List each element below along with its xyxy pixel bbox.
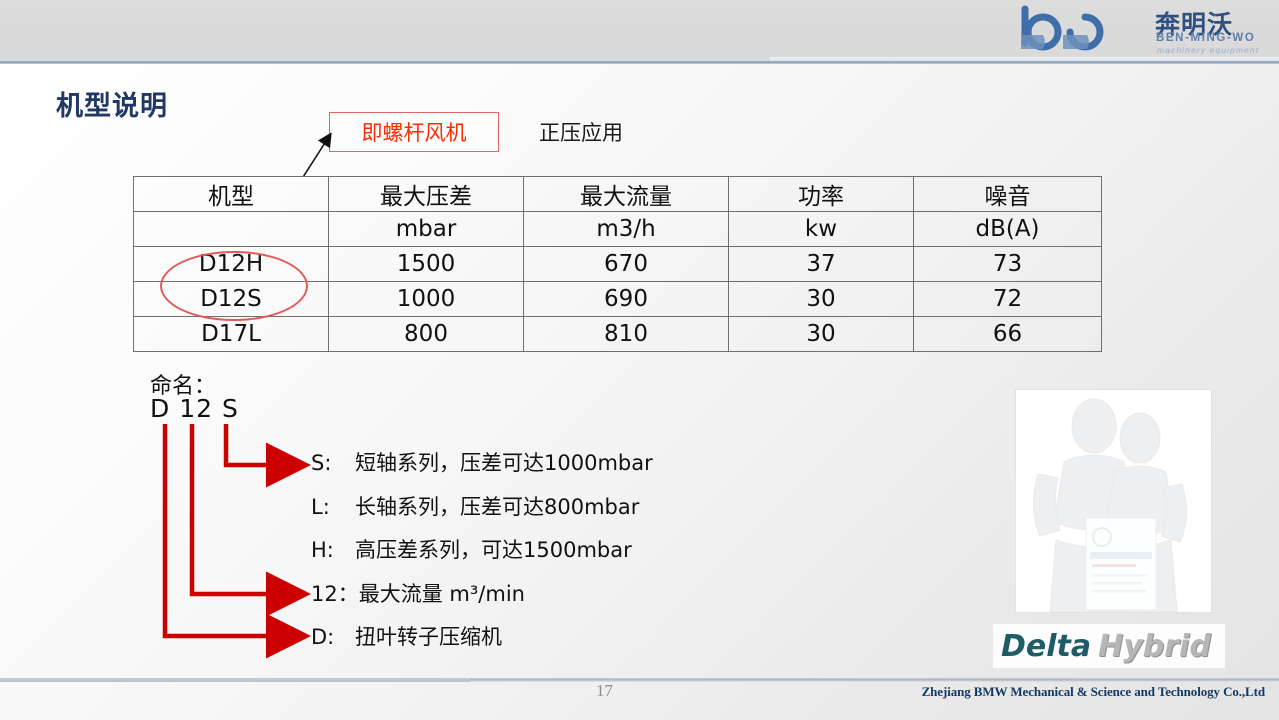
th-model: 机型 (134, 177, 329, 212)
company-logo: 奔明沃 BEN-MING-WO machinery equipment (1015, 3, 1265, 55)
page-number: 17 (596, 681, 613, 701)
footer-rule-left (0, 679, 470, 682)
legend-item-l: L:长轴系列，压差可达800mbar (311, 491, 1011, 535)
naming-legend: S:短轴系列，压差可达1000mbar L:长轴系列，压差可达800mbar H… (311, 447, 1011, 665)
footer-company: Zhejiang BMW Mechanical & Science and Te… (922, 684, 1265, 700)
table-row: D12S 1000 690 30 72 (134, 282, 1102, 317)
cell-power: 37 (729, 247, 914, 282)
header-rule (0, 61, 1279, 64)
legend-desc-12: 最大流量 m³/min (359, 582, 525, 606)
th-power: 功率 (729, 177, 914, 212)
unit-noise: dB(A) (914, 212, 1102, 247)
th-pressure: 最大压差 (329, 177, 524, 212)
legend-item-12: 12：最大流量 m³/min (311, 578, 1011, 622)
connector-12 (192, 424, 302, 594)
legend-key-l: L: (311, 495, 355, 519)
unit-pressure: mbar (329, 212, 524, 247)
table-row: D17L 800 810 30 66 (134, 317, 1102, 352)
cell-pressure: 1500 (329, 247, 524, 282)
page-title: 机型说明 (56, 84, 168, 123)
logo-tagline: machinery equipment (1157, 45, 1259, 55)
legend-desc-d: 扭叶转子压缩机 (355, 625, 502, 649)
legend-item-d: D:扭叶转子压缩机 (311, 621, 1011, 665)
legend-desc-h: 高压差系列，可达1500mbar (355, 538, 632, 562)
cell-noise: 73 (914, 247, 1102, 282)
unit-power: kw (729, 212, 914, 247)
cell-noise: 72 (914, 282, 1102, 317)
cell-power: 30 (729, 317, 914, 352)
logo-english-name: BEN-MING-WO (1156, 32, 1255, 44)
cell-pressure: 1000 (329, 282, 524, 317)
naming-code: D 12 S (150, 394, 239, 423)
legend-desc-l: 长轴系列，压差可达800mbar (355, 495, 639, 519)
brand-hybrid: Hybrid (1098, 629, 1211, 664)
brand-delta: Delta (1001, 629, 1091, 664)
cell-flow: 810 (524, 317, 729, 352)
slide-canvas: 奔明沃 BEN-MING-WO machinery equipment 机型说明… (0, 0, 1279, 720)
callout-box: 即螺杆风机 (329, 112, 499, 152)
unit-flow: m3/h (524, 212, 729, 247)
table-unit-row: mbar m3/h kw dB(A) (134, 212, 1102, 247)
legend-key-12: 12： (311, 582, 359, 606)
table-row: D12H 1500 670 37 73 (134, 247, 1102, 282)
unit-model (134, 212, 329, 247)
cell-flow: 670 (524, 247, 729, 282)
positive-pressure-note: 正压应用 (539, 117, 623, 147)
spec-table: 机型 最大压差 最大流量 功率 噪音 mbar m3/h kw dB(A) D1… (133, 176, 1102, 352)
th-noise: 噪音 (914, 177, 1102, 212)
cell-model: D17L (134, 317, 329, 352)
th-flow: 最大流量 (524, 177, 729, 212)
callout-box-text: 即螺杆风机 (362, 117, 467, 147)
connector-d (165, 424, 302, 636)
legend-key-h: H: (311, 538, 355, 562)
legend-item-s: S:短轴系列，压差可达1000mbar (311, 447, 1011, 491)
delta-hybrid-logo: Delta Hybrid (993, 624, 1225, 668)
cell-power: 30 (729, 282, 914, 317)
legend-key-s: S: (311, 451, 355, 475)
cell-pressure: 800 (329, 317, 524, 352)
cell-model: D12H (134, 247, 329, 282)
robot-photo (1015, 389, 1212, 613)
legend-key-d: D: (311, 625, 355, 649)
legend-desc-s: 短轴系列，压差可达1000mbar (355, 451, 653, 475)
cell-model: D12S (134, 282, 329, 317)
two-humanoid-robots-icon (1016, 390, 1211, 612)
table-header-row: 机型 最大压差 最大流量 功率 噪音 (134, 177, 1102, 212)
cell-flow: 690 (524, 282, 729, 317)
connector-s (226, 424, 302, 465)
legend-item-h: H:高压差系列，可达1500mbar (311, 534, 1011, 578)
cell-noise: 66 (914, 317, 1102, 352)
